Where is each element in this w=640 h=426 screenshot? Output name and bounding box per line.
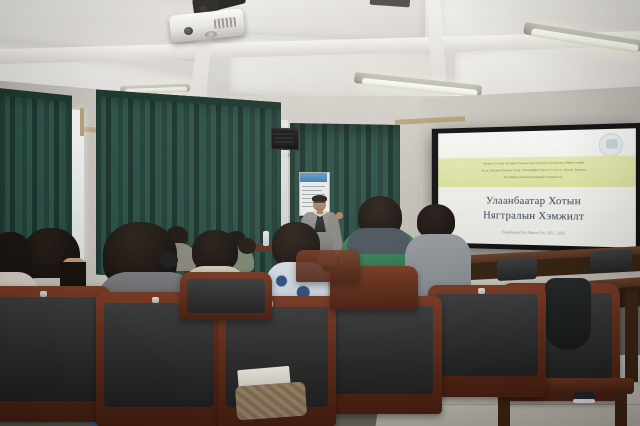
- handbag: [235, 382, 307, 421]
- projection-screen: Монгол Улсын Засгийн Газрын Хэрэгжүүлэгч…: [438, 128, 636, 247]
- chair-leg: [615, 390, 627, 426]
- chair-leg: [498, 392, 510, 426]
- desk-leg: [625, 292, 638, 382]
- slide-title-line-1: Улаанбаатар Хотын: [438, 195, 636, 208]
- eyeglasses-arm: [160, 252, 178, 268]
- poster-text-line: [302, 186, 325, 187]
- presenter-glasses: [314, 201, 325, 203]
- chair-back-pad: [187, 279, 265, 313]
- slide-footer: Улаанбаатар Хот, Монгол Улс, 2012 - 2030: [438, 229, 636, 237]
- lecture-hall-photo: Монгол Улсын Засгийн Газрын Хэрэгжүүлэгч…: [0, 0, 640, 426]
- attendee-head: [417, 204, 455, 238]
- window-frame: [80, 108, 84, 136]
- attendee-hood: [347, 228, 411, 254]
- jacket-on-chair: [545, 278, 591, 350]
- emblem-inner-shape: [606, 139, 618, 149]
- slide-band-line: Хот Байгуулалтын Ерөнхий Төлөвлөгөө: [453, 174, 619, 179]
- chair-back-pad: [328, 306, 433, 394]
- poster-text-line: [302, 190, 322, 191]
- chair-back-pad: [0, 297, 102, 401]
- attendee-head: [238, 238, 256, 254]
- shoe-sole: [573, 399, 595, 403]
- chair-stud: [478, 288, 485, 294]
- slide-title-line-2: Нягтралын Хэмжилт: [438, 209, 636, 224]
- water-bottle: [263, 231, 269, 246]
- chair-back: [497, 257, 537, 281]
- poster-header: [300, 173, 327, 182]
- chair-back: [590, 249, 632, 273]
- speaker-grille: [274, 131, 294, 145]
- chair-stud: [40, 291, 47, 297]
- chair: [296, 250, 360, 282]
- presenter-hand: [336, 212, 343, 219]
- chair-back-pad: [436, 294, 538, 376]
- chair-stud: [152, 297, 159, 303]
